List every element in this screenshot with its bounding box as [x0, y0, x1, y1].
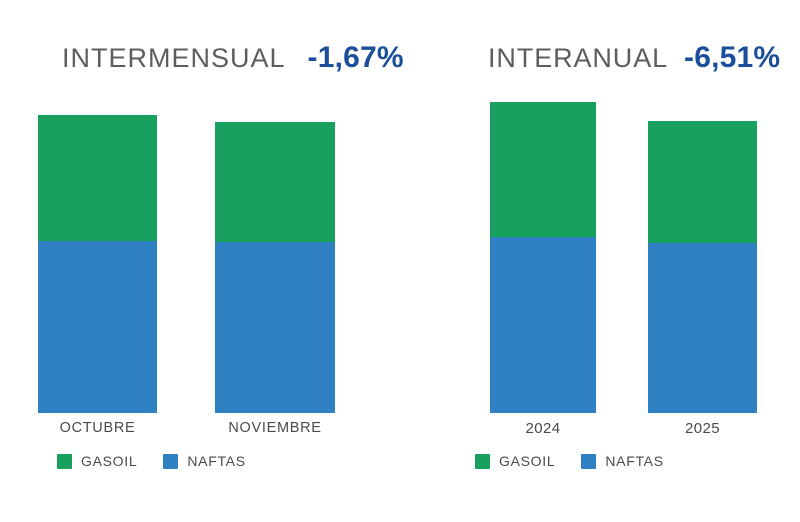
bar-2024[interactable] [490, 102, 596, 413]
bar-segment-naftas [215, 242, 335, 413]
category-label-octubre: OCTUBRE [38, 420, 157, 436]
bar-segment-naftas [490, 237, 596, 413]
plot-area-intermensual: OCTUBRE NOVIEMBRE [0, 0, 420, 522]
chart-board: INTERMENSUAL -1,67% OCTUBRE NOVIEMBRE GA… [0, 0, 800, 522]
legend-swatch-gasoil-icon [57, 454, 72, 469]
legend-swatch-gasoil-icon [475, 454, 490, 469]
legend-label-naftas: NAFTAS [187, 453, 245, 469]
category-label-2024: 2024 [490, 420, 596, 437]
legend-item-gasoil[interactable]: GASOIL [57, 453, 137, 469]
panel-intermensual: INTERMENSUAL -1,67% OCTUBRE NOVIEMBRE GA… [0, 0, 420, 522]
bar-segment-gasoil [215, 122, 335, 242]
bar-2025[interactable] [648, 121, 757, 413]
legend-item-naftas[interactable]: NAFTAS [581, 453, 663, 469]
bar-segment-gasoil [648, 121, 757, 243]
category-label-noviembre: NOVIEMBRE [215, 420, 335, 436]
legend-swatch-naftas-icon [163, 454, 178, 469]
legend-item-naftas[interactable]: NAFTAS [163, 453, 245, 469]
legend-interanual: GASOIL NAFTAS [475, 453, 664, 469]
plot-area-interanual: 2024 2025 [420, 0, 800, 522]
legend-label-gasoil: GASOIL [499, 453, 555, 469]
legend-swatch-naftas-icon [581, 454, 596, 469]
bar-segment-gasoil [490, 102, 596, 237]
bar-segment-gasoil [38, 115, 157, 241]
legend-item-gasoil[interactable]: GASOIL [475, 453, 555, 469]
bar-octubre[interactable] [38, 115, 157, 413]
panel-interanual: INTERANUAL -6,51% 2024 2025 GASOIL [420, 0, 800, 522]
legend-label-naftas: NAFTAS [605, 453, 663, 469]
bar-noviembre[interactable] [215, 122, 335, 413]
category-label-2025: 2025 [648, 420, 757, 437]
bar-segment-naftas [648, 243, 757, 413]
bar-segment-naftas [38, 241, 157, 413]
legend-intermensual: GASOIL NAFTAS [57, 453, 246, 469]
legend-label-gasoil: GASOIL [81, 453, 137, 469]
